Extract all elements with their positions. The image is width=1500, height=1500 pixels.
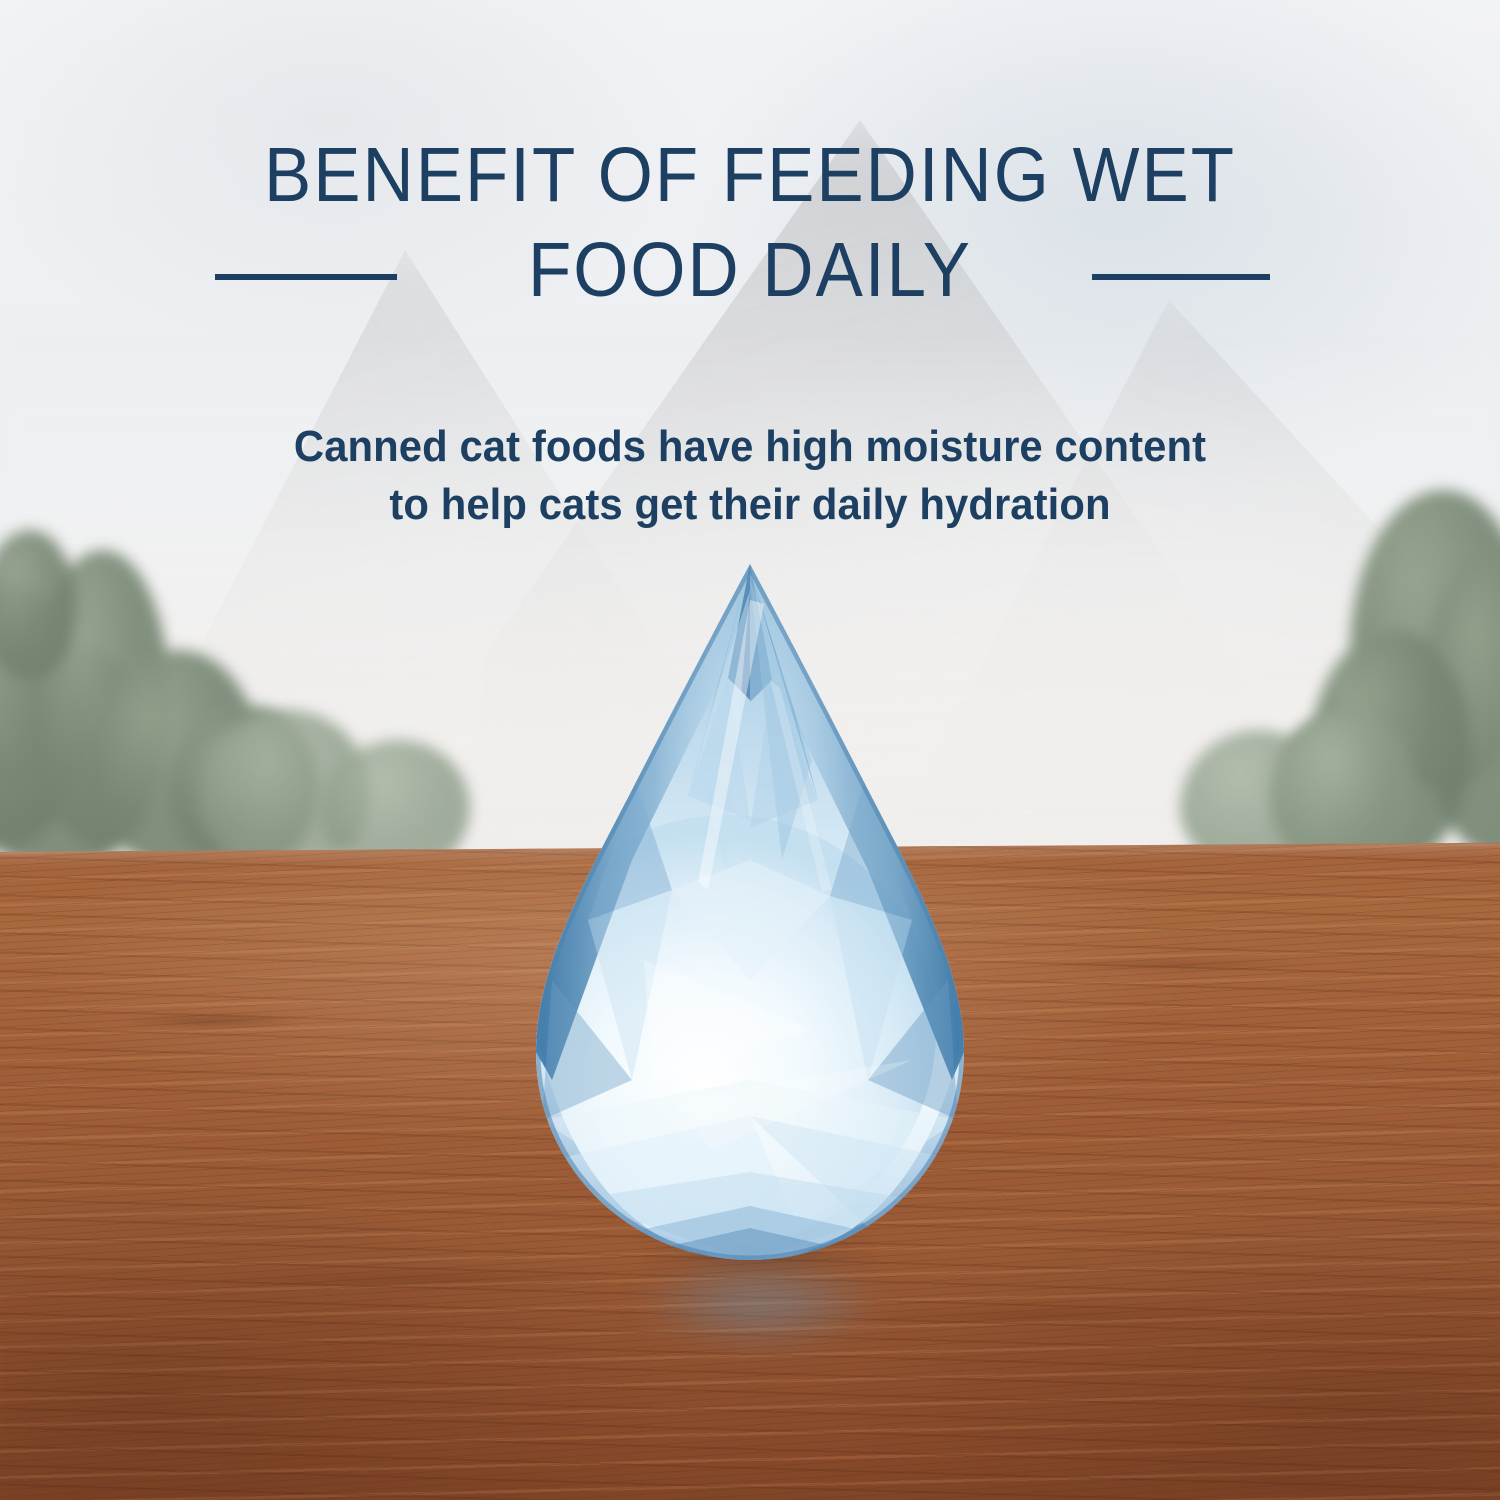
subtitle-line-1: Canned cat foods have high moisture cont… xyxy=(38,418,1463,476)
promo-banner: BENEFIT OF FEEDING WET FOOD DAILY Canned… xyxy=(0,0,1500,1500)
droplet-reflection xyxy=(600,1255,920,1375)
headline-rules xyxy=(0,262,1500,292)
headline-line-1: BENEFIT OF FEEDING WET xyxy=(60,128,1440,223)
water-droplet xyxy=(512,560,988,1270)
decorative-rule-left-icon xyxy=(215,274,397,280)
subtitle-line-2: to help cats get their daily hydration xyxy=(38,476,1463,534)
subtitle: Canned cat foods have high moisture cont… xyxy=(38,418,1463,534)
tree-cluster-left-far xyxy=(200,640,500,870)
decorative-rule-right-icon xyxy=(1092,274,1270,280)
